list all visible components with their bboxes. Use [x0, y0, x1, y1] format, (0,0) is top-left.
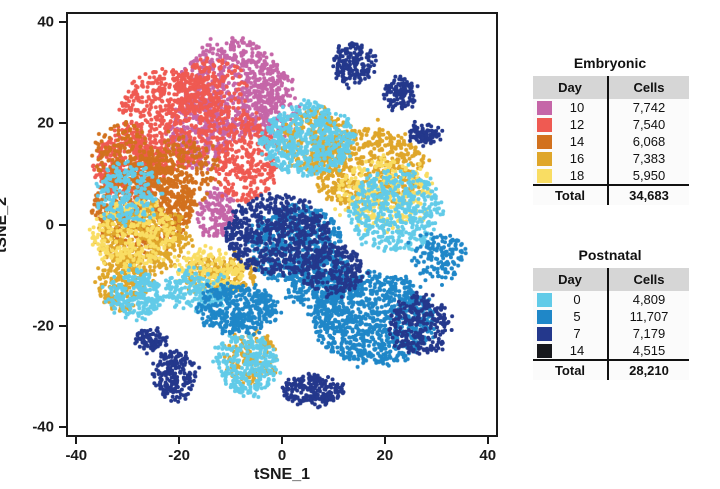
table-header-row: Day Cells: [533, 268, 689, 291]
legend-cells-value: 4,515: [608, 342, 689, 360]
color-swatch-icon: [537, 310, 552, 324]
y-tick-mark: [59, 426, 66, 428]
x-tick-mark: [178, 437, 180, 444]
total-label: Total: [533, 360, 608, 380]
legend-day-value: 10: [556, 100, 584, 115]
y-tick-label: -20: [8, 317, 54, 334]
legend-cells-value: 6,068: [608, 133, 689, 150]
legend-row: 167,383: [533, 150, 689, 167]
scatter-plot-canvas: [68, 14, 496, 435]
legend-cells-value: 7,742: [608, 99, 689, 116]
x-tick-label: 0: [257, 447, 307, 464]
legend-day-value: 7: [559, 326, 580, 341]
legend-day-value: 18: [556, 168, 584, 183]
legend-day-cell: 14: [533, 342, 608, 360]
x-tick-mark: [281, 437, 283, 444]
total-row: Total 28,210: [533, 360, 689, 380]
y-tick-label: 20: [8, 115, 54, 132]
total-value: 28,210: [608, 360, 689, 380]
legend-cells-value: 7,383: [608, 150, 689, 167]
legend-row: 77,179: [533, 325, 689, 342]
x-tick-mark: [75, 437, 77, 444]
column-header-day: Day: [533, 76, 608, 99]
x-tick-label: 40: [463, 447, 513, 464]
legend-cells-value: 7,179: [608, 325, 689, 342]
table-header-row: Day Cells: [533, 76, 689, 99]
legend-postnatal: Postnatal Day Cells 04,809511,70777,1791…: [533, 247, 687, 380]
legend-day-value: 0: [559, 292, 580, 307]
legend-day-cell: 14: [533, 133, 608, 150]
legend-day-cell: 5: [533, 308, 608, 325]
legend-row: 511,707: [533, 308, 689, 325]
x-tick-mark: [487, 437, 489, 444]
x-tick-label: -20: [154, 447, 204, 464]
legend-day-cell: 0: [533, 291, 608, 308]
y-tick-label: -40: [8, 418, 54, 435]
legend-day-value: 14: [556, 343, 584, 358]
color-swatch-icon: [537, 101, 552, 115]
color-swatch-icon: [537, 169, 552, 183]
x-tick-label: -40: [51, 447, 101, 464]
legend-day-cell: 12: [533, 116, 608, 133]
legend-day-value: 14: [556, 134, 584, 149]
legend-row: 185,950: [533, 167, 689, 185]
legend-day-value: 5: [559, 309, 580, 324]
color-swatch-icon: [537, 152, 552, 166]
legend-row: 144,515: [533, 342, 689, 360]
total-row: Total 34,683: [533, 185, 689, 205]
legend-cells-value: 7,540: [608, 116, 689, 133]
y-tick-mark: [59, 325, 66, 327]
legend-row: 127,540: [533, 116, 689, 133]
y-tick-mark: [59, 21, 66, 23]
legend-day-cell: 16: [533, 150, 608, 167]
y-tick-mark: [59, 224, 66, 226]
legend-day-cell: 18: [533, 167, 608, 185]
legend-cells-value: 11,707: [608, 308, 689, 325]
legend-embryonic: Embryonic Day Cells 107,742127,540146,06…: [533, 55, 687, 205]
column-header-cells: Cells: [608, 268, 689, 291]
legend-postnatal-title: Postnatal: [533, 247, 687, 268]
legend-day-value: 16: [556, 151, 584, 166]
color-swatch-icon: [537, 135, 552, 149]
legend-day-value: 12: [556, 117, 584, 132]
tsne-figure: tSNE_2 40200-20-40 -40-2002040 tSNE_1 Em…: [0, 0, 720, 489]
legend-postnatal-table: Day Cells 04,809511,70777,179144,515 Tot…: [533, 268, 689, 380]
x-tick-mark: [384, 437, 386, 444]
legend-embryonic-body: 107,742127,540146,068167,383185,950: [533, 99, 689, 185]
legend-row: 146,068: [533, 133, 689, 150]
total-value: 34,683: [608, 185, 689, 205]
legend-embryonic-title: Embryonic: [533, 55, 687, 76]
legend-row: 107,742: [533, 99, 689, 116]
legend-cells-value: 4,809: [608, 291, 689, 308]
color-swatch-icon: [537, 327, 552, 341]
x-tick-label: 20: [360, 447, 410, 464]
legend-day-cell: 7: [533, 325, 608, 342]
y-tick-label: 40: [8, 14, 54, 31]
legend-cells-value: 5,950: [608, 167, 689, 185]
legend-row: 04,809: [533, 291, 689, 308]
y-tick-mark: [59, 122, 66, 124]
total-label: Total: [533, 185, 608, 205]
color-swatch-icon: [537, 293, 552, 307]
legend-postnatal-body: 04,809511,70777,179144,515: [533, 291, 689, 360]
column-header-cells: Cells: [608, 76, 689, 99]
x-axis-label: tSNE_1: [66, 466, 498, 484]
y-tick-label: 0: [8, 216, 54, 233]
column-header-day: Day: [533, 268, 608, 291]
color-swatch-icon: [537, 118, 552, 132]
legend-day-cell: 10: [533, 99, 608, 116]
plot-panel: [66, 12, 498, 437]
legend-embryonic-table: Day Cells 107,742127,540146,068167,38318…: [533, 76, 689, 205]
color-swatch-icon: [537, 344, 552, 358]
